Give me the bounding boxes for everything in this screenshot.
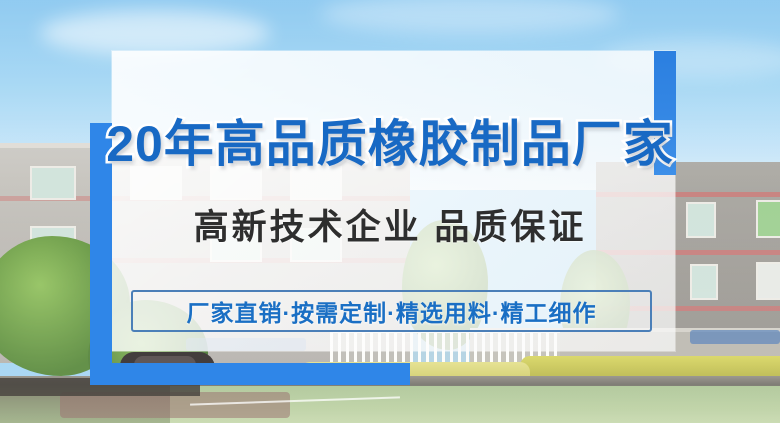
subtitle-text: 高新技术企业 品质保证 [0, 199, 780, 250]
tagline-text: 厂家直销·按需定制·精选用料·精工细作 [187, 294, 597, 328]
tagline-box: 厂家直销·按需定制·精选用料·精工细作 [131, 290, 652, 332]
accent-bar-bottom [90, 363, 410, 385]
promotional-banner: 20年高品质橡胶制品厂家 高新技术企业 品质保证 厂家直销·按需定制·精选用料·… [0, 0, 780, 423]
headline-text: 20年高品质橡胶制品厂家 [0, 104, 780, 176]
